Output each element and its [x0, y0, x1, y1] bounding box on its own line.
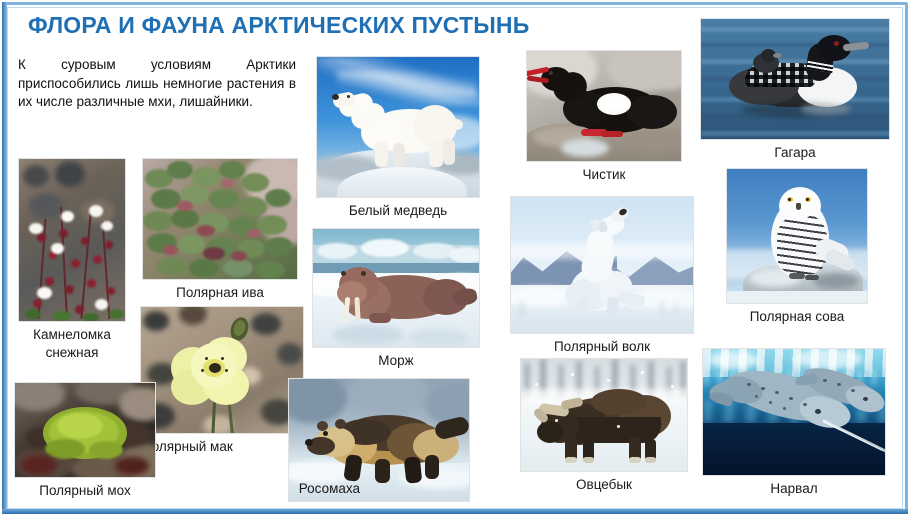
saxifraga-photo — [18, 158, 126, 322]
figure-snowy-owl[interactable]: Полярная сова — [726, 168, 868, 325]
figure-polar-bear[interactable]: Белый медведь — [316, 56, 480, 219]
figure-polar-wolf[interactable]: Полярный волк — [510, 196, 694, 355]
figure-loon[interactable]: Гагара — [700, 18, 890, 161]
figure-guillemot[interactable]: Чистик — [526, 50, 682, 183]
saxifraga-caption-line2: снежная — [18, 344, 126, 362]
loon-photo — [700, 18, 890, 140]
figure-polar-poppy[interactable]: Полярный мак — [140, 306, 304, 455]
musk-ox-photo — [520, 358, 688, 472]
saxifraga-caption-line1: Камнеломка — [18, 326, 126, 344]
musk-ox-caption: Овцебык — [520, 472, 688, 493]
narwhal-caption: Нарвал — [702, 476, 886, 497]
saxifraga-caption: Камнеломка снежная — [18, 322, 126, 362]
polar-moss-photo — [14, 382, 156, 478]
figure-polar-moss[interactable]: Полярный мох — [14, 382, 156, 499]
snowy-owl-caption: Полярная сова — [726, 304, 868, 325]
slide-frame-left-accent — [2, 2, 7, 514]
polar-willow-photo — [142, 158, 298, 280]
figure-walrus[interactable]: Морж — [312, 228, 480, 369]
polar-poppy-photo — [140, 306, 304, 434]
loon-caption: Гагара — [700, 140, 890, 161]
polar-poppy-caption: Полярный мак — [140, 434, 304, 455]
snowy-owl-photo — [726, 168, 868, 304]
walrus-caption: Морж — [312, 348, 480, 369]
polar-bear-photo — [316, 56, 480, 198]
guillemot-caption: Чистик — [526, 162, 682, 183]
polar-wolf-caption: Полярный волк — [510, 334, 694, 355]
page-title: ФЛОРА И ФАУНА АРКТИЧЕСКИХ ПУСТЫНЬ — [28, 12, 529, 39]
polar-willow-caption: Полярная ива — [142, 280, 298, 301]
figure-saxifraga[interactable]: Камнеломка снежная — [18, 158, 126, 362]
polar-wolf-photo — [510, 196, 694, 334]
figure-musk-ox[interactable]: Овцебык — [520, 358, 688, 493]
figure-narwhal[interactable]: Нарвал — [702, 348, 886, 497]
narwhal-photo — [702, 348, 886, 476]
guillemot-photo — [526, 50, 682, 162]
walrus-photo — [312, 228, 480, 348]
slide-canvas: ФЛОРА И ФАУНА АРКТИЧЕСКИХ ПУСТЫНЬ К суро… — [0, 0, 910, 516]
wolverine-caption: Росомаха — [240, 476, 360, 497]
figure-wolverine[interactable]: Росомаха — [288, 378, 470, 502]
figure-polar-willow[interactable]: Полярная ива — [142, 158, 298, 301]
slide-frame-bottom-accent — [2, 509, 908, 514]
intro-paragraph: К суровым условиям Арктики приспособилис… — [18, 56, 296, 112]
polar-bear-caption: Белый медведь — [316, 198, 480, 219]
polar-moss-caption: Полярный мох — [14, 478, 156, 499]
